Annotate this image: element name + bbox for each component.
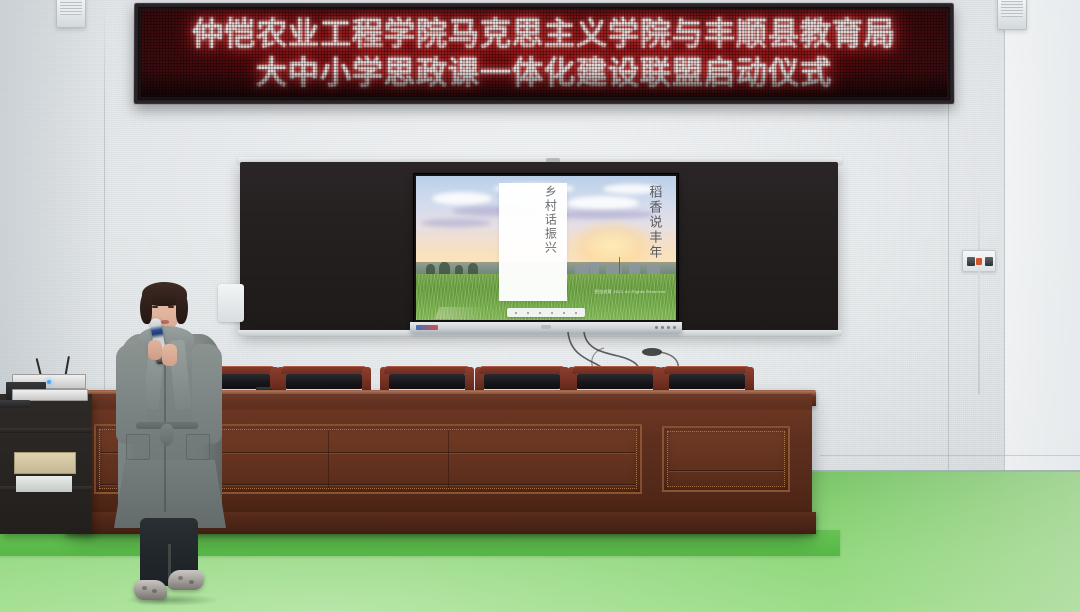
led-banner-line-1: 仲恺农业工程学院马克思主义学院与丰顺县教育局 [192,18,896,51]
presenter-arm-right [192,344,222,444]
presenter-hair-right [176,292,188,324]
display-sensor-icon [541,325,551,329]
wall-speaker-left-icon [56,0,86,28]
outlet-indicator-icon [976,258,982,265]
toolbar-prev-icon[interactable] [539,312,541,314]
presenter-belt-knot [160,424,174,446]
slide-title-right: 稻香说丰年 [647,185,660,297]
toolbar-menu-icon[interactable] [563,312,565,314]
slide-watermark: 图虫创意 2021 All Rights Reserved [595,289,666,295]
toolbar-next-icon[interactable] [551,312,553,314]
toolbar-pen-icon[interactable] [515,312,517,314]
lecture-hall-photo: 仲恺农业工程学院马克思主义学院与丰顺县教育局 大中小学思政课一体化建设联盟启动仪… [0,0,1080,612]
presenter-mouth [161,320,169,324]
wall-cable-lower [978,268,980,394]
led-screen-face: 仲恺农业工程学院马克思主义学院与丰顺县教育局 大中小学思政课一体化建设联盟启动仪… [141,10,947,97]
presenter-shoe-right [168,570,204,590]
outlet-slot-left [967,257,975,266]
display-power-icon[interactable] [655,326,658,329]
slide-toolbar[interactable] [507,308,585,317]
wall-trim-line [820,455,1080,456]
storage-box-white [16,476,72,492]
wall-cable-upper [978,190,980,252]
slide-title-left: 乡村话振兴 [544,185,556,297]
presenter-hand-right [162,344,177,366]
presenter-shoe-left [134,580,167,600]
storage-box-tan [14,452,76,474]
speaker-grill [60,0,82,15]
display-brand-logo [416,325,438,330]
wall-speaker-right-icon [997,0,1027,30]
speaker-grill [1001,1,1023,17]
outlet-slot-right [985,257,993,266]
display-volume-icon[interactable] [667,326,670,329]
podium-panel-right [662,426,790,492]
presentation-slide: 稻香说丰年 乡村话振兴 图虫创意 2021 All Rights Reserve… [416,176,676,320]
power-led-icon [47,380,51,384]
led-bottom-shade [141,71,947,97]
toolbar-close-icon[interactable] [575,312,577,314]
presenter-pocket-right [186,434,210,460]
led-scrolling-banner: 仲恺农业工程学院马克思主义学院与丰顺县教育局 大中小学思政课一体化建设联盟启动仪… [134,3,954,104]
interactive-flat-panel[interactable]: 稻香说丰年 乡村话振兴 图虫创意 2021 All Rights Reserve… [414,174,678,322]
presenter-pocket-left [126,434,150,460]
presenter-arm-left [116,344,146,444]
toolbar-pointer-icon[interactable] [527,312,529,314]
display-menu-icon[interactable] [661,326,664,329]
display-source-icon[interactable] [673,326,676,329]
av-keyboard[interactable] [0,400,30,408]
presenter [106,282,232,612]
display-control-buttons[interactable] [655,326,676,329]
presenter-hand-left [148,340,162,360]
av-shelf-1 [0,428,92,433]
